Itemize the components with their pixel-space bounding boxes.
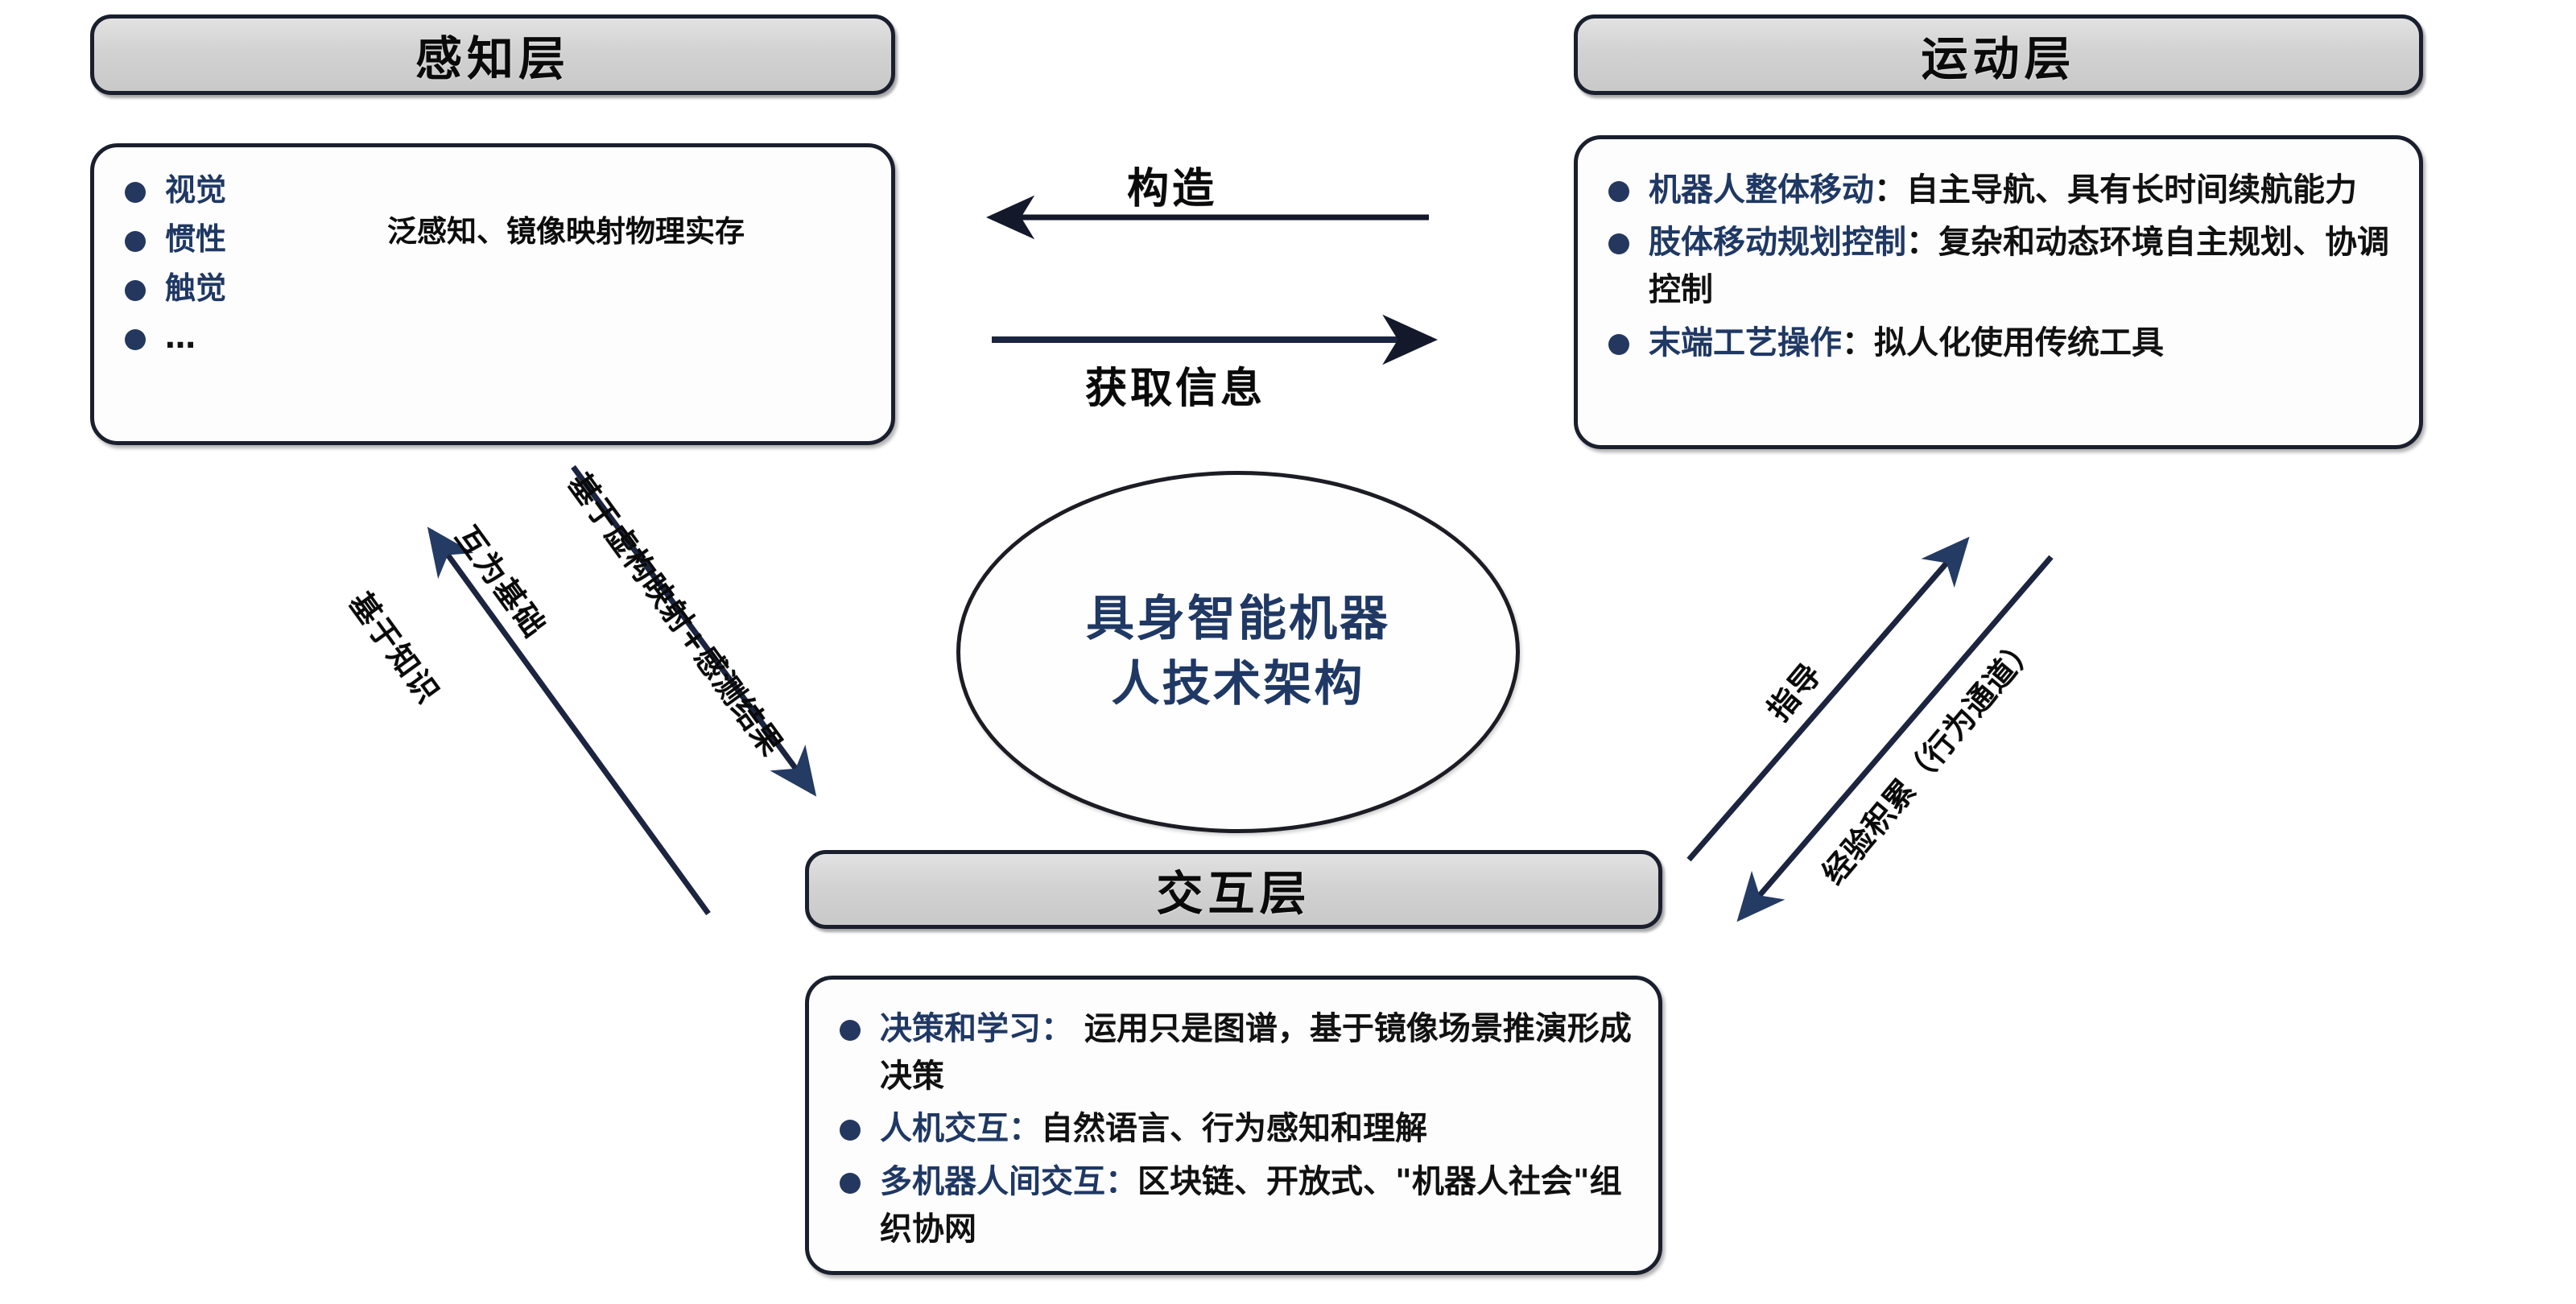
interaction-header-box: 交互层: [805, 850, 1662, 929]
perception-header-box: 感知层: [90, 14, 895, 95]
perception-content: 视觉 惯性 触觉 … 泛感知、镜像映射物理实存: [118, 168, 867, 365]
list-item: 惯性: [118, 217, 279, 262]
list-item: 末端工艺操作：拟人化使用传统工具: [1602, 320, 2395, 367]
perception-bullet-list: 视觉 惯性 触觉 …: [118, 168, 279, 365]
label-acquire-info: 获取信息: [1085, 354, 1265, 415]
motion-bullet-list: 机器人整体移动：自主导航、具有长时间续航能力 肢体移动规划控制：复杂和动态环境自…: [1602, 167, 2395, 367]
arrow-guidance: [1689, 541, 1966, 860]
interaction-header-label: 交互层: [1156, 856, 1311, 923]
label-virtual-mapping-sensing: 基于虚构映射+感测结果: [560, 462, 796, 763]
label-experience-accumulation: 经验积累（行为通道）: [1810, 623, 2046, 892]
list-item: 触觉: [118, 266, 279, 311]
label-guidance: 指导: [1755, 651, 1831, 729]
perception-header-label: 感知层: [415, 21, 570, 89]
list-item: …: [118, 316, 279, 360]
interaction-body-box: 决策和学习： 运用只是图谱，基于镜像场景推演形成决策 人机交互：自然语言、行为感…: [805, 976, 1662, 1275]
center-ellipse: 具身智能机器 人技术架构: [956, 471, 1520, 833]
list-item: 机器人整体移动：自主导航、具有长时间续航能力: [1602, 167, 2395, 214]
center-title-line1: 具身智能机器: [1086, 587, 1390, 652]
label-construct: 构造: [1127, 155, 1217, 215]
list-item: 肢体移动规划控制：复杂和动态环境自主规划、协调控制: [1602, 219, 2395, 314]
diagram-canvas: 感知层 视觉 惯性 触觉 … 泛感知、镜像映射物理实存 运动层 机器人整体移动：…: [0, 0, 2576, 1304]
motion-header-box: 运动层: [1574, 14, 2423, 95]
list-item: 多机器人间交互：区块链、开放式、"机器人社会"组织协网: [833, 1158, 1634, 1253]
label-mutual-foundation: 互为基础: [448, 515, 559, 646]
center-title-line2: 人技术架构: [1112, 652, 1365, 717]
motion-header-label: 运动层: [1921, 21, 2075, 89]
motion-body-box: 机器人整体移动：自主导航、具有长时间续航能力 肢体移动规划控制：复杂和动态环境自…: [1574, 135, 2423, 449]
interaction-bullet-list: 决策和学习： 运用只是图谱，基于镜像场景推演形成决策 人机交互：自然语言、行为感…: [833, 1005, 1634, 1253]
list-item: 视觉: [118, 168, 279, 213]
perception-note: 泛感知、镜像映射物理实存: [279, 168, 867, 254]
list-item: 人机交互：自然语言、行为感知和理解: [833, 1105, 1634, 1153]
arrow-experience-accumulation: [1740, 557, 2051, 918]
list-item: 决策和学习： 运用只是图谱，基于镜像场景推演形成决策: [833, 1005, 1634, 1100]
perception-body-box: 视觉 惯性 触觉 … 泛感知、镜像映射物理实存: [90, 143, 895, 445]
label-based-on-knowledge: 基于知识: [341, 581, 453, 712]
